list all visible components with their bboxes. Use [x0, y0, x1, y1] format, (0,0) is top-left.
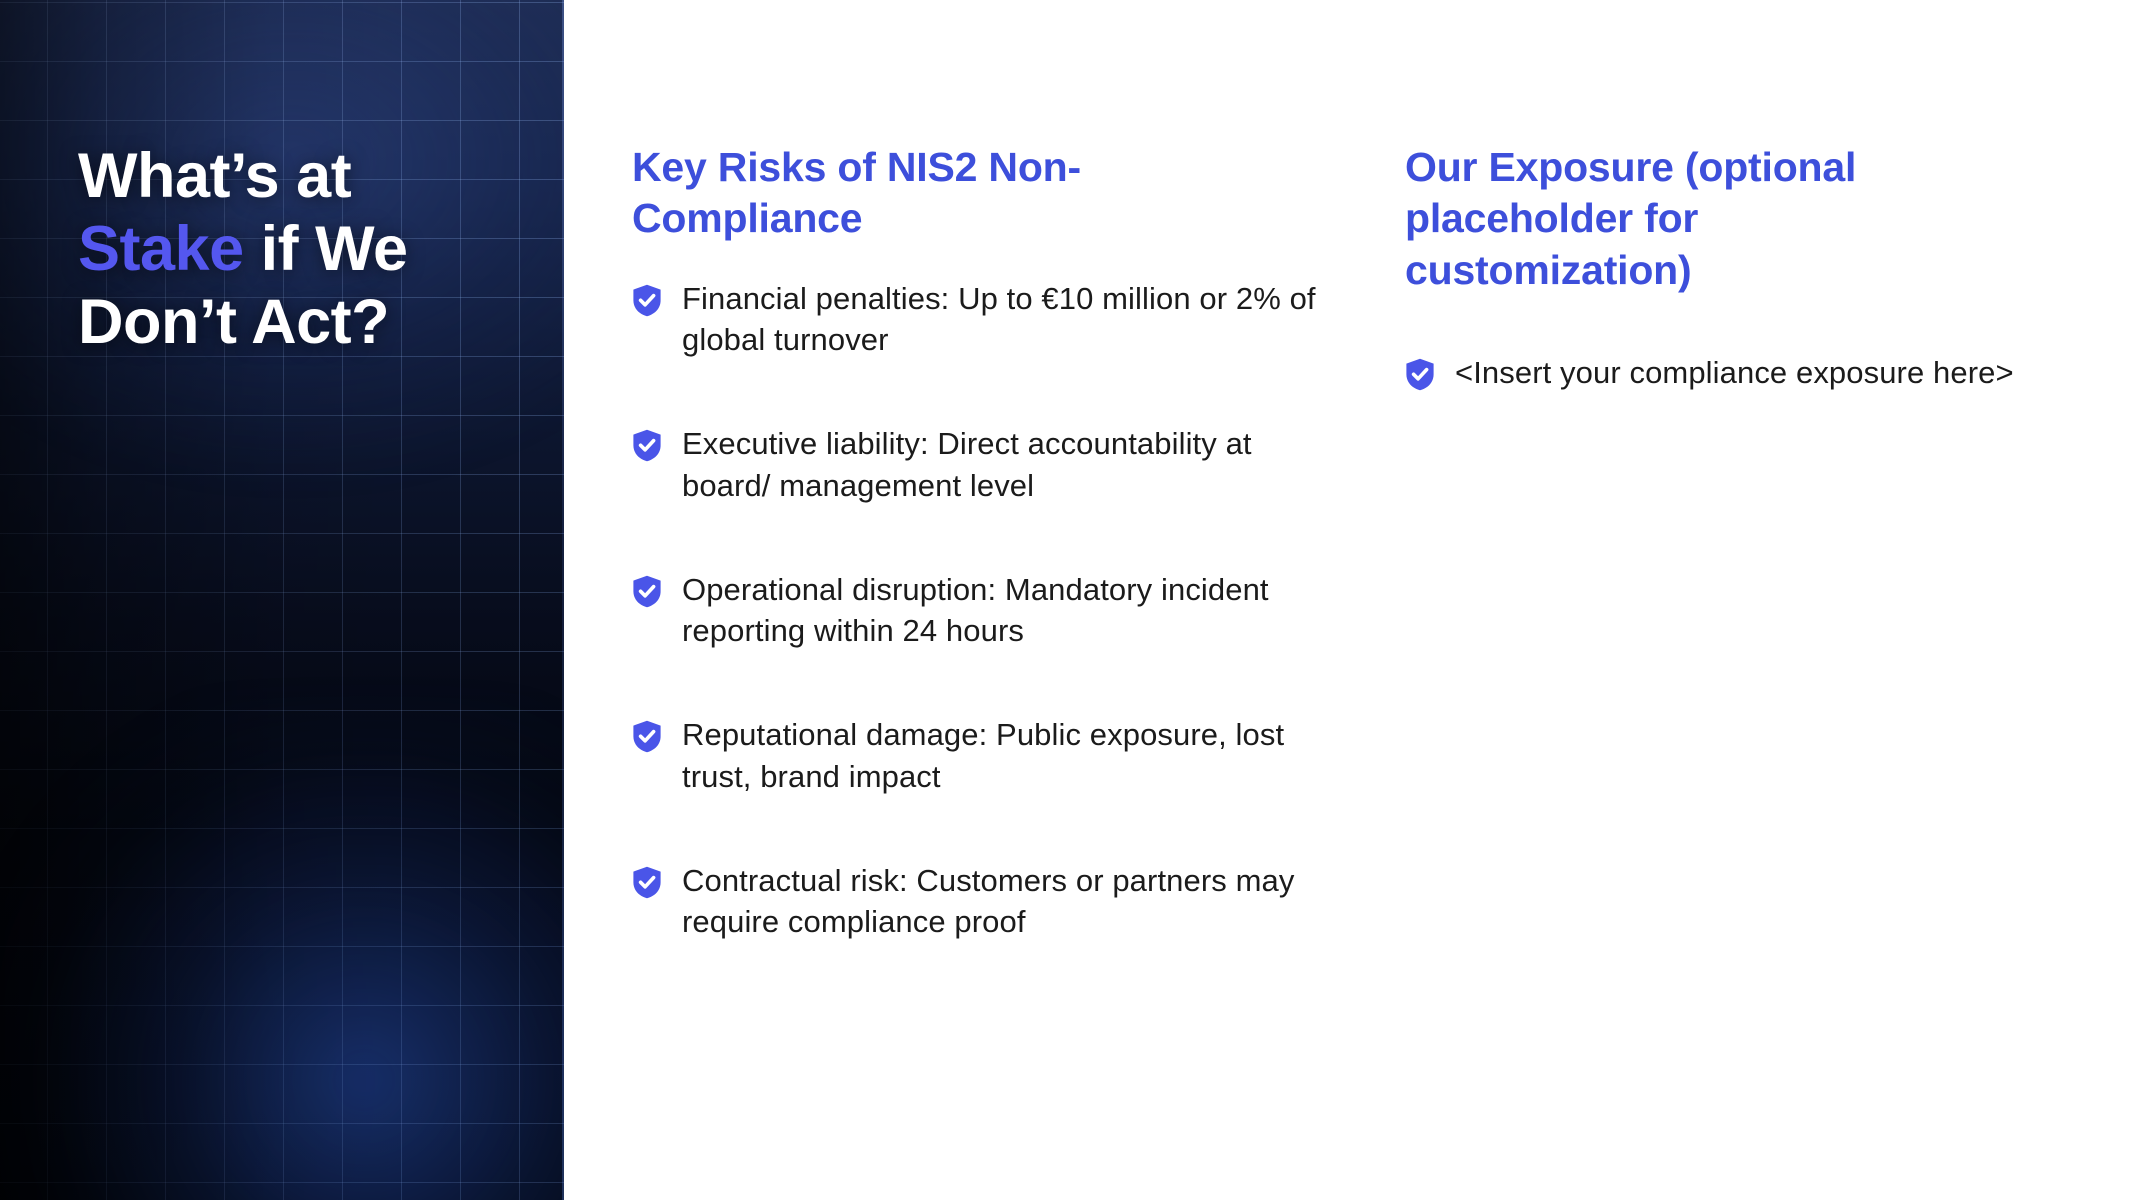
list-item-label: Operational disruption: Mandatory incide…	[682, 569, 1347, 651]
bullet-list-key-risks: Financial penalties: Up to €10 million o…	[632, 278, 1347, 942]
page-title-line-3: Don’t Act?	[78, 287, 389, 357]
list-item: Reputational damage: Public exposure, lo…	[632, 714, 1347, 796]
list-item-label: Reputational damage: Public exposure, lo…	[682, 714, 1347, 796]
slide-root: What’s atStake if WeDon’t Act? Key Risks…	[0, 0, 2133, 1200]
hero-panel-edge	[562, 0, 564, 1200]
shield-check-icon	[1405, 358, 1435, 391]
bullet-list-our-exposure: <Insert your compliance exposure here>	[1405, 352, 2025, 398]
list-item-label: Executive liability: Direct accountabili…	[682, 423, 1347, 505]
column-heading-our-exposure: Our Exposure (optional placeholder for c…	[1405, 142, 1945, 296]
page-title: What’s atStake if WeDon’t Act?	[78, 140, 508, 359]
shield-check-icon	[632, 575, 662, 608]
list-item-label: <Insert your compliance exposure here>	[1455, 352, 2025, 393]
shield-check-icon	[632, 284, 662, 317]
list-item: Operational disruption: Mandatory incide…	[632, 569, 1347, 651]
page-title-line-2-rest: if We	[244, 214, 408, 284]
column-heading-key-risks: Key Risks of NIS2 Non-Compliance	[632, 142, 1172, 245]
list-item: Contractual risk: Customers or partners …	[632, 860, 1347, 942]
list-item: Financial penalties: Up to €10 million o…	[632, 278, 1347, 360]
shield-check-icon	[632, 720, 662, 753]
list-item: <Insert your compliance exposure here>	[1405, 352, 2025, 398]
list-item-label: Financial penalties: Up to €10 million o…	[682, 278, 1347, 360]
page-title-line-1: What’s at	[78, 141, 351, 211]
shield-check-icon	[632, 866, 662, 899]
list-item: Executive liability: Direct accountabili…	[632, 423, 1347, 505]
page-title-accent-word: Stake	[78, 214, 244, 284]
shield-check-icon	[632, 429, 662, 462]
hero-panel: What’s atStake if WeDon’t Act?	[0, 0, 564, 1200]
list-item-label: Contractual risk: Customers or partners …	[682, 860, 1347, 942]
